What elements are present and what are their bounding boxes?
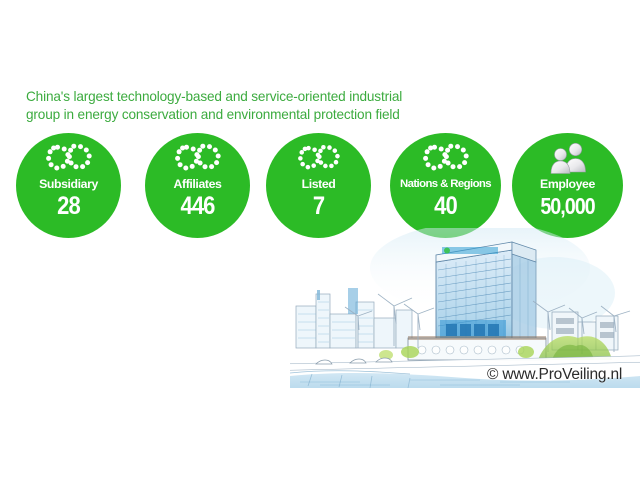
- stat-label: Affiliates: [145, 177, 250, 191]
- stat-value: 7: [272, 191, 364, 221]
- stat-value: 446: [151, 191, 243, 221]
- stat-label: Employee: [512, 177, 623, 191]
- watercolor-cityscape-illustration: [290, 228, 640, 388]
- page-title: China's largest technology-based and ser…: [26, 88, 496, 123]
- two-people-figures-icon: [512, 141, 623, 175]
- stats-row: Subsidiary 28: [0, 133, 640, 241]
- watermark: © www.ProVeiling.nl: [487, 366, 622, 384]
- stat-value: 40: [397, 191, 495, 221]
- infinity-dots-icon: [266, 141, 371, 175]
- stat-label: Nations & Regions: [390, 177, 501, 191]
- infinity-dots-icon: [145, 141, 250, 175]
- infinity-dots-icon: [390, 141, 501, 175]
- infinity-dots-icon: [16, 141, 121, 175]
- stat-circle-listed: Listed 7: [266, 133, 371, 238]
- stat-value: 28: [22, 191, 114, 221]
- stat-circle-subsidiary: Subsidiary 28: [16, 133, 121, 238]
- stat-circle-employee: Employee 50,000: [512, 133, 623, 238]
- stat-label: Listed: [266, 177, 371, 191]
- infographic-poster: China's largest technology-based and ser…: [0, 0, 640, 480]
- stat-circle-nations-regions: Nations & Regions 40: [390, 133, 501, 238]
- stat-circle-affiliates: Affiliates 446: [145, 133, 250, 238]
- stat-label: Subsidiary: [16, 177, 121, 191]
- stat-value: 50,000: [520, 191, 615, 221]
